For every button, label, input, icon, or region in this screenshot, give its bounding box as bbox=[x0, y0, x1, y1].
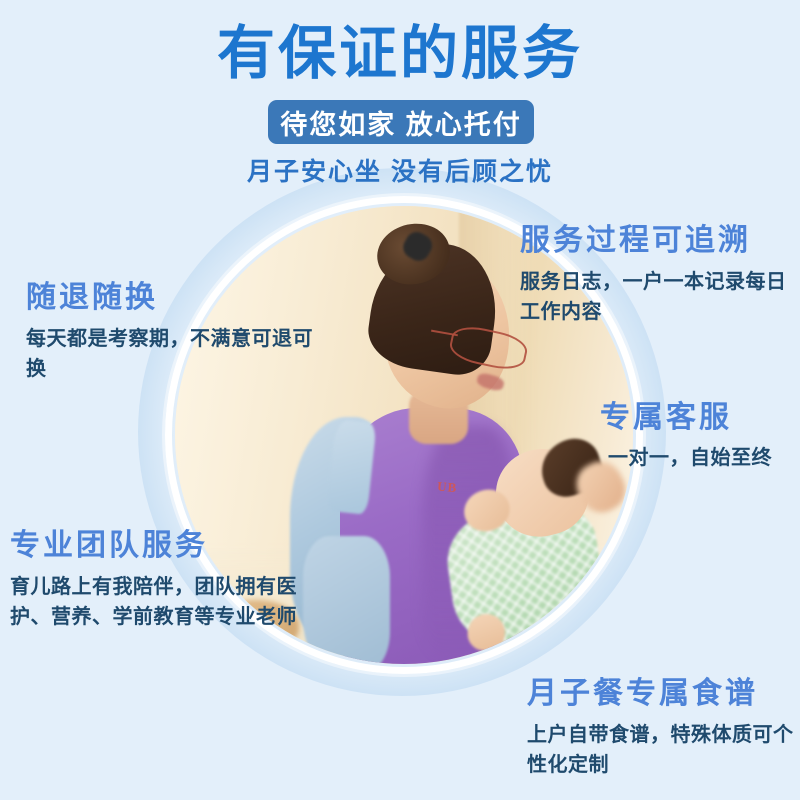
feature-team: 专业团队服务 育儿路上有我陪伴，团队拥有医护、营养、学前教育等专业老师 bbox=[10, 520, 310, 632]
feature-trace-title: 服务过程可追溯 bbox=[520, 215, 790, 259]
feature-recipe-title: 月子餐专属食谱 bbox=[527, 668, 800, 712]
page-title: 有保证的服务 bbox=[0, 20, 800, 87]
feature-team-body: 育儿路上有我陪伴，团队拥有医护、营养、学前教育等专业老师 bbox=[10, 573, 310, 632]
feature-team-title: 专业团队服务 bbox=[10, 520, 310, 564]
feature-exchange-title: 随退随换 bbox=[26, 272, 326, 316]
feature-trace-body: 服务日志，一户一本记录每日工作内容 bbox=[520, 268, 790, 327]
feature-exchange-body: 每天都是考察期，不满意可退可换 bbox=[26, 325, 326, 384]
feature-trace: 服务过程可追溯 服务日志，一户一本记录每日工作内容 bbox=[520, 215, 790, 327]
promo-poster: UB 有保证的服务 待您如家 放心托付 月子 bbox=[0, 0, 800, 800]
feature-support: 专属客服 一对一，自始至终 bbox=[600, 392, 800, 474]
feature-exchange: 随退随换 每天都是考察期，不满意可退可换 bbox=[26, 272, 326, 384]
tagline-badge: 待您如家 放心托付 bbox=[268, 100, 534, 144]
feature-support-body: 一对一，自始至终 bbox=[600, 444, 800, 474]
caregiver-lower-sleeve bbox=[303, 536, 390, 664]
page-subtitle: 月子安心坐 没有后顾之忧 bbox=[0, 152, 800, 188]
feature-recipe-body: 上户自带食谱，特殊体质可个性化定制 bbox=[527, 721, 800, 780]
feature-support-title: 专属客服 bbox=[600, 392, 800, 436]
feature-recipe: 月子餐专属食谱 上户自带食谱，特殊体质可个性化定制 bbox=[527, 668, 800, 780]
